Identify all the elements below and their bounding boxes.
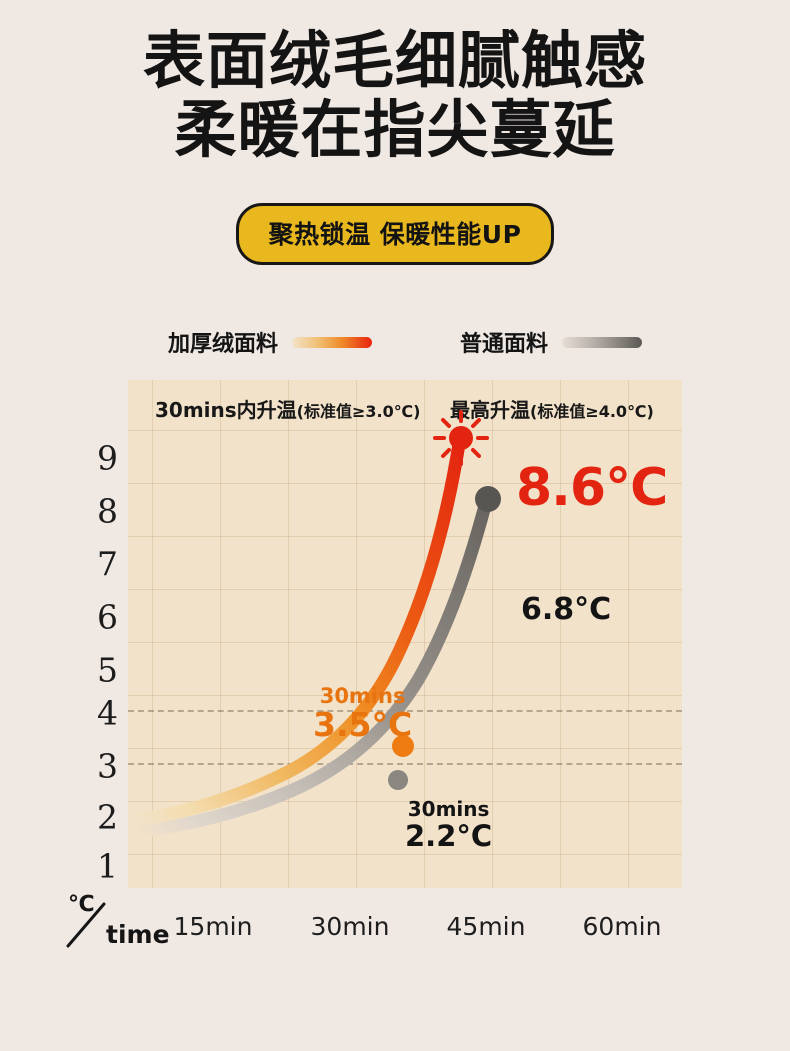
- annotation-30min-thick-value: 3.5°C: [313, 705, 412, 744]
- legend-item-thick-fleece: 加厚绒面料: [168, 326, 372, 358]
- legend-label-normal-fabric: 普通面料: [460, 326, 548, 358]
- y-tick: 4: [70, 694, 118, 733]
- legend-swatch-thick-fleece: [292, 337, 372, 348]
- curve-thick-fleece: [136, 438, 460, 820]
- marker-normal-30min: [388, 770, 408, 790]
- y-tick: 9: [70, 439, 118, 478]
- title-line-2: 柔暖在指尖蔓延: [0, 95, 790, 164]
- y-axis-labels: 9 8 7 6 5 4 3 2 1: [70, 380, 118, 888]
- y-tick: 8: [70, 492, 118, 531]
- legend-label-thick-fleece: 加厚绒面料: [168, 326, 278, 358]
- sunburst-icon: [435, 412, 487, 464]
- chart-legend: 加厚绒面料 普通面料: [130, 326, 670, 358]
- annotation-30min-thick-fleece: 30mins 3.5°C: [313, 684, 412, 744]
- legend-item-normal-fabric: 普通面料: [460, 326, 642, 358]
- page-title: 表面绒毛细腻触感 柔暖在指尖蔓延: [0, 26, 790, 165]
- badge-container: 聚热锁温 保暖性能UP: [0, 203, 790, 265]
- x-tick: 60min: [583, 912, 662, 941]
- annotation-30min-normal-value: 2.2°C: [405, 819, 492, 853]
- x-tick: 15min: [174, 912, 253, 941]
- marker-normal-peak: [475, 486, 501, 512]
- annotation-peak-thick-fleece: 8.6°C: [516, 458, 667, 518]
- y-tick: 6: [70, 598, 118, 637]
- axis-label-time: time: [106, 920, 170, 949]
- axis-corner-label: ℃ time: [62, 892, 182, 954]
- y-tick: 7: [70, 545, 118, 584]
- title-line-1: 表面绒毛细腻触感: [0, 26, 790, 95]
- y-tick: 5: [70, 651, 118, 690]
- annotation-30min-normal-fabric: 30mins 2.2°C: [405, 797, 492, 853]
- x-tick: 30min: [311, 912, 390, 941]
- annotation-peak-normal-fabric: 6.8°C: [521, 592, 611, 627]
- axis-slash-icon: [64, 898, 112, 950]
- x-axis-labels: 15min 30min 45min 60min: [128, 912, 682, 946]
- feature-badge: 聚热锁温 保暖性能UP: [236, 203, 555, 265]
- x-tick: 45min: [447, 912, 526, 941]
- y-tick: 3: [70, 747, 118, 786]
- y-tick: 2: [70, 798, 118, 837]
- y-tick: 1: [70, 847, 118, 886]
- annotation-30min-normal-caption: 30mins: [405, 797, 492, 821]
- legend-swatch-normal-fabric: [562, 337, 642, 348]
